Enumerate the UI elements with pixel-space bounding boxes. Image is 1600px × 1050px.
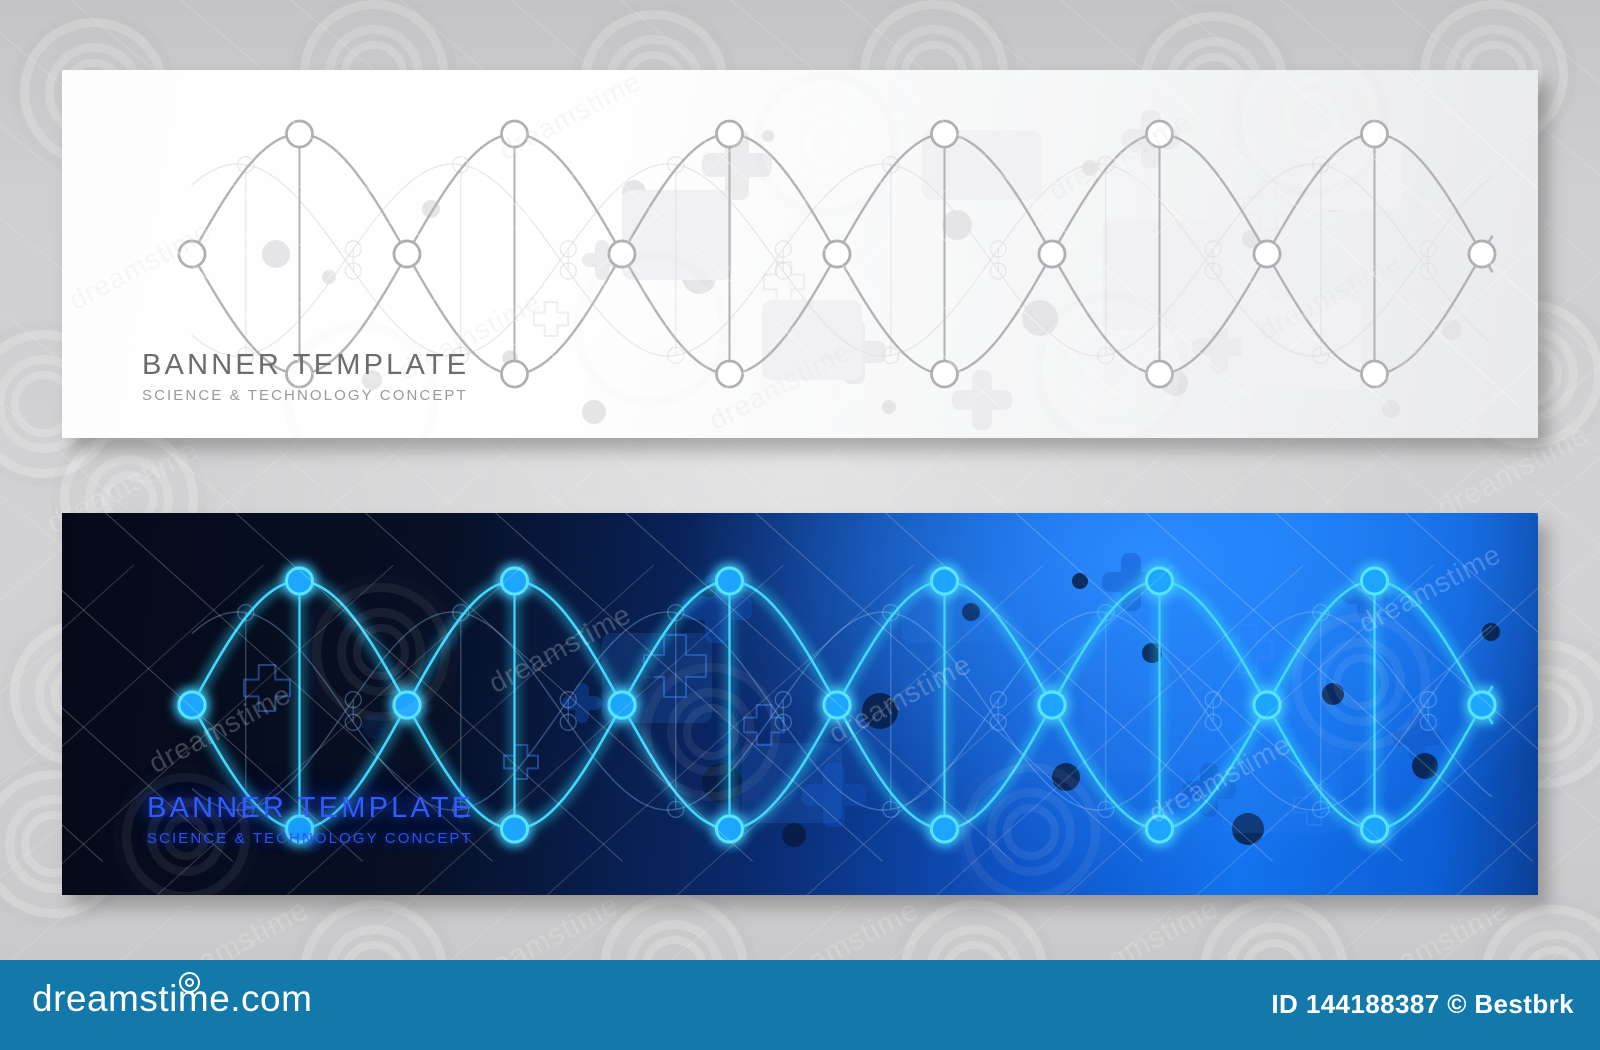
light-banner-title-block: BANNER TEMPLATE SCIENCE & TECHNOLOGY CON… — [142, 350, 469, 404]
banner-subtitle: SCIENCE & TECHNOLOGY CONCEPT — [147, 830, 474, 847]
dark-banner-title-block: BANNER TEMPLATE SCIENCE & TECHNOLOGY CON… — [147, 793, 474, 847]
image-id-label: ID 144188387 © Bestbrk — [1271, 989, 1574, 1020]
banner-title: BANNER TEMPLATE — [147, 793, 474, 823]
banner-dark[interactable]: dreamstimedreamstimedreamstimedreamstime… — [62, 513, 1538, 895]
footer-bar: dreamstime.com ID 144188387 © Bestbrk — [0, 960, 1600, 1050]
page-stage: dreamstimedreamstimedreamstimedreamstime… — [0, 0, 1600, 1050]
dreamstime-logo[interactable]: dreamstime.com — [32, 978, 312, 1020]
banner-light[interactable]: dreamstimedreamstimedreamstimedreamstime… — [62, 70, 1538, 438]
footer-logo-text: dreamstime.com — [32, 978, 312, 1019]
banner-title: BANNER TEMPLATE — [142, 350, 469, 380]
banner-subtitle: SCIENCE & TECHNOLOGY CONCEPT — [142, 387, 469, 404]
